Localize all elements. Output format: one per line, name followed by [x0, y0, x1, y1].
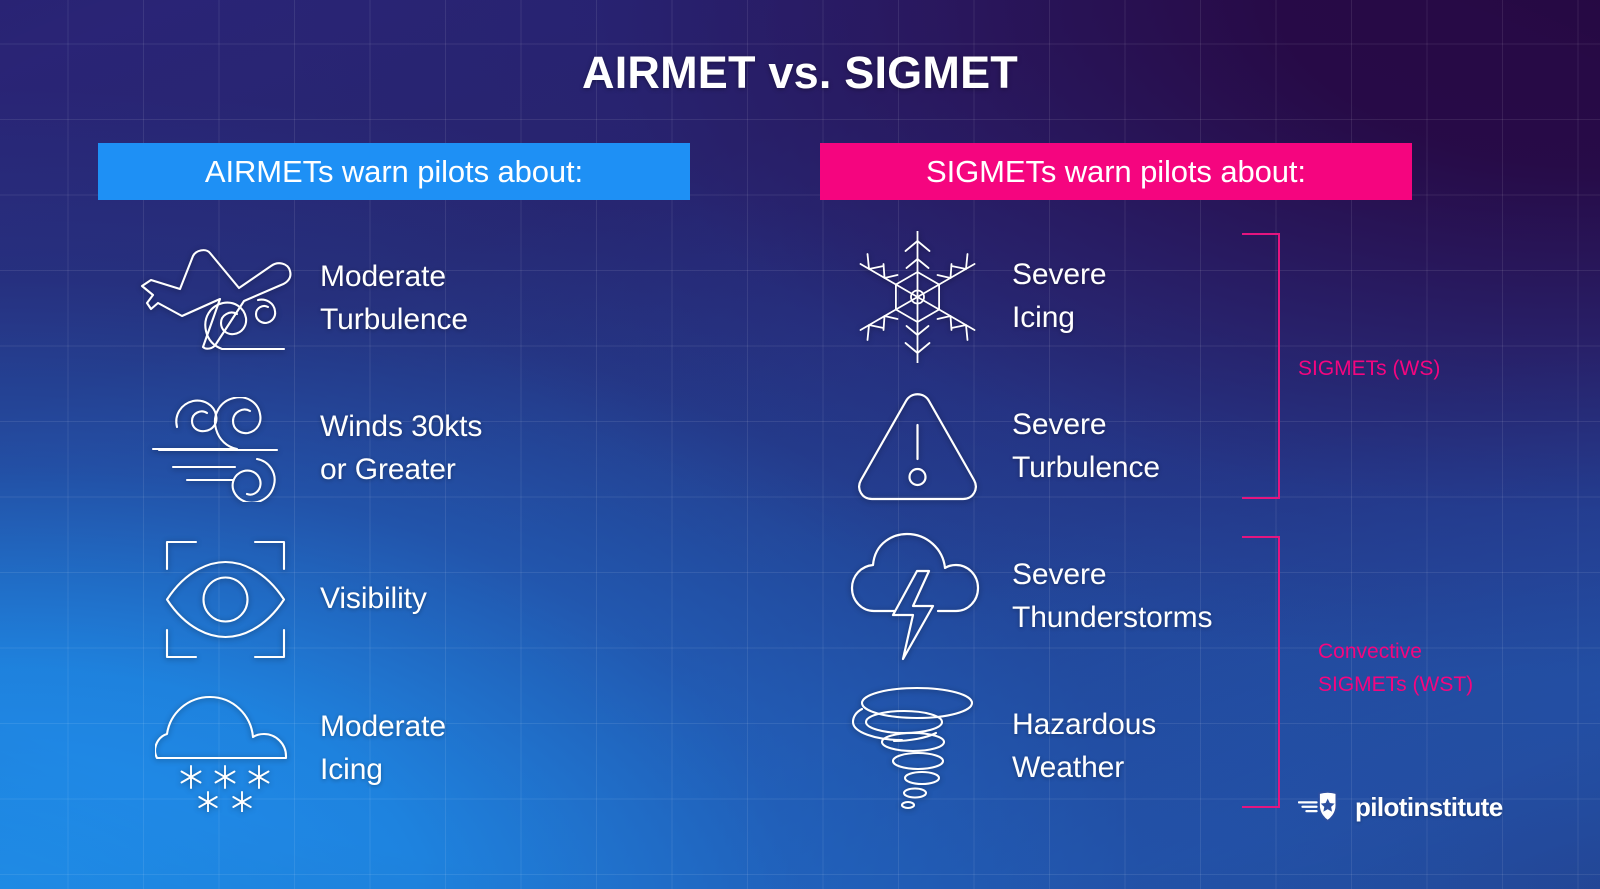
sigmet-column: Severe Icing Severe Turbulence Severe Th… [822, 222, 1462, 822]
sigmet-banner: SIGMETs warn pilots about: [820, 143, 1412, 200]
bracket-arm-bottom [1242, 806, 1280, 808]
list-item: Moderate Icing [130, 674, 770, 824]
eye-visibility-icon [130, 537, 320, 662]
bracket-label-convective-sigmets-wst: Convective SIGMETs (WST) [1318, 636, 1473, 701]
infographic-content: AIRMET vs. SIGMET AIRMETs warn pilots ab… [0, 0, 1600, 889]
cloud-snow-icon [130, 687, 320, 812]
list-item: Severe Turbulence [822, 372, 1462, 522]
logo-wordmark: pilotinstitute [1355, 792, 1503, 823]
bracket-arm-top [1242, 233, 1280, 235]
warning-triangle-icon [822, 392, 1012, 502]
cloud-lightning-icon [822, 531, 1012, 663]
list-item-label: Severe Icing [1012, 254, 1106, 339]
bracket-arm-bottom [1242, 497, 1280, 499]
bracket-sigmets-ws [1242, 233, 1280, 499]
winged-shield-star-icon [1298, 790, 1346, 824]
airplane-turbulence-icon [130, 244, 320, 354]
list-item-label: Severe Thunderstorms [1012, 554, 1212, 639]
airmet-banner: AIRMETs warn pilots about: [98, 143, 690, 200]
pilot-institute-logo: pilotinstitute [1298, 790, 1503, 824]
bracket-vertical-line [1278, 536, 1280, 808]
bracket-arm-top [1242, 536, 1280, 538]
page-title: AIRMET vs. SIGMET [0, 47, 1600, 99]
list-item: Severe Icing [822, 222, 1462, 372]
bracket-label-sigmets-ws: SIGMETs (WS) [1298, 353, 1440, 386]
list-item-label: Visibility [320, 578, 427, 621]
list-item: Winds 30kts or Greater [130, 374, 770, 524]
list-item: Moderate Turbulence [130, 224, 770, 374]
list-item-label: Moderate Turbulence [320, 256, 468, 341]
tornado-icon [822, 683, 1012, 811]
list-item-label: Moderate Icing [320, 706, 446, 791]
wind-icon [130, 397, 320, 502]
bracket-vertical-line [1278, 233, 1280, 499]
list-item: Visibility [130, 524, 770, 674]
snowflake-icon [822, 231, 1012, 363]
list-item-label: Severe Turbulence [1012, 404, 1160, 489]
list-item-label: Hazardous Weather [1012, 704, 1156, 789]
bracket-convective-sigmets-wst [1242, 536, 1280, 808]
list-item-label: Winds 30kts or Greater [320, 406, 482, 491]
airmet-column: Moderate Turbulence Winds 30kts or Great… [130, 224, 770, 824]
